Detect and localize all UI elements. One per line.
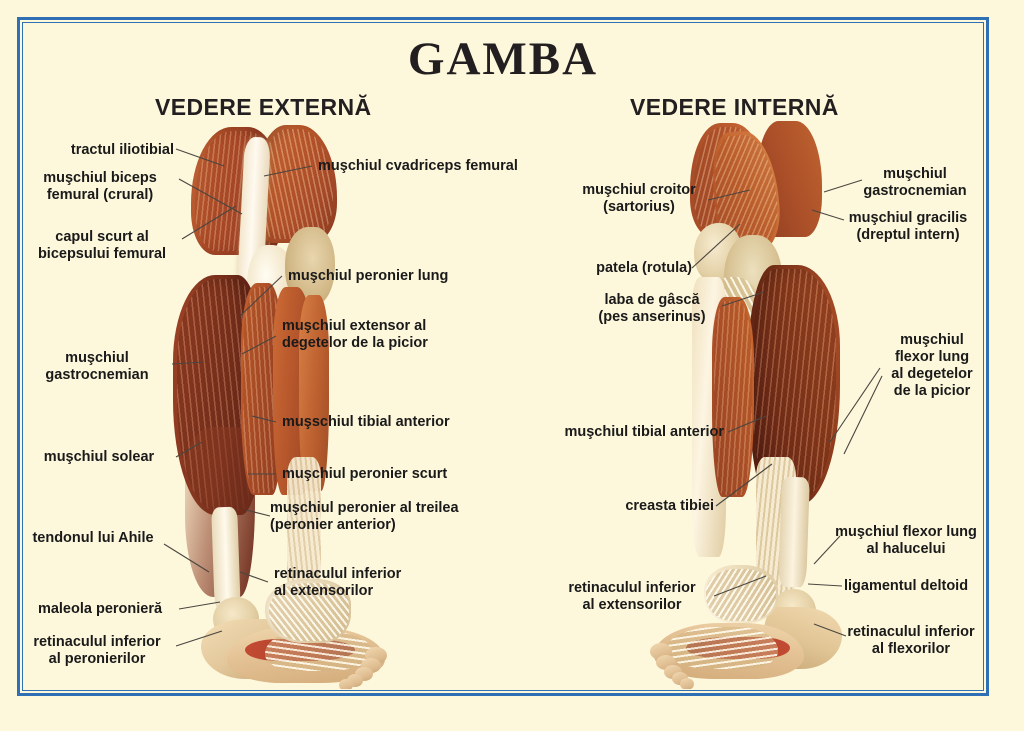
label-creasta-tibiei: creasta tibiei xyxy=(564,498,714,515)
label-solear: muşchiul solear xyxy=(24,449,174,466)
label-maleola-peroniera: maleola peronieră xyxy=(24,601,176,618)
label-patela-rotula: patela (rotula) xyxy=(552,260,692,277)
heading-external-view: VEDERE EXTERNĂ xyxy=(155,94,371,121)
label-peronier-lung: muşchiul peronier lung xyxy=(288,268,518,285)
label-croitor-sartorius: muşchiul croitor (sartorius) xyxy=(569,182,709,216)
achilles-tendon-shape xyxy=(778,477,810,588)
label-peronier-al-treilea: muşchiul peronier al treilea (peronier a… xyxy=(270,500,518,534)
label-flexor-lung-degete: muşchiul flexor lung al degetelor de la … xyxy=(882,332,982,400)
label-gastrocnemian-ext: muşchiul gastrocnemian xyxy=(24,350,170,384)
label-peronier-scurt: muşchiul peronier scurt xyxy=(282,466,512,483)
label-flexor-lung-halucelui: muşchiul flexor lung al halucelui xyxy=(830,524,982,558)
foot-tendon-bundle xyxy=(666,627,778,669)
toe-shape xyxy=(680,678,694,689)
anatomy-poster: GAMBA VEDERE EXTERNĂ VEDERE INTERNĂ xyxy=(0,0,1024,731)
label-biceps-femural: muşchiul biceps femural (crural) xyxy=(24,170,176,204)
page-title: GAMBA xyxy=(24,36,982,83)
poster-stage: GAMBA VEDERE EXTERNĂ VEDERE INTERNĂ xyxy=(24,24,982,689)
label-tractul-iliotibial: tractul iliotibial xyxy=(34,142,174,159)
label-laba-de-gasca: laba de gâscă (pes anserinus) xyxy=(582,292,722,326)
label-extensor-degete: muşchiul extensor al degetelor de la pic… xyxy=(282,318,502,352)
label-tibial-anterior-int: muşchiul tibial anterior xyxy=(534,424,724,441)
label-cvadriceps-femural: muşchiul cvadriceps femural xyxy=(318,158,568,175)
heading-internal-view: VEDERE INTERNĂ xyxy=(630,94,839,121)
label-capul-scurt-biceps: capul scurt al bicepsului femural xyxy=(24,229,180,263)
label-ligamentul-deltoid: ligamentul deltoid xyxy=(844,578,982,595)
label-retinacul-inf-peronieri: retinaculul inferior al peronierilor xyxy=(24,634,174,668)
label-retinacul-inf-extensori-int: retinaculul inferior al extensorilor xyxy=(552,580,712,614)
label-tibial-anterior-ext: muşschiul tibial anterior xyxy=(282,414,522,431)
toe-shape xyxy=(339,679,353,689)
label-gracilis: muşchiul gracilis (dreptul intern) xyxy=(834,210,982,244)
label-tendonul-ahile: tendonul lui Ahile xyxy=(24,530,162,547)
muscle-fiber-texture xyxy=(714,301,752,495)
retinaculum-band-texture xyxy=(706,569,776,621)
label-gastrocnemian-int: muşchiul gastrocnemian xyxy=(848,166,982,200)
label-retinacul-inf-flexori: retinaculul inferior al flexorilor xyxy=(836,624,982,658)
label-retinacul-inf-extensori-ext: retinaculul inferior al extensorilor xyxy=(274,566,474,600)
